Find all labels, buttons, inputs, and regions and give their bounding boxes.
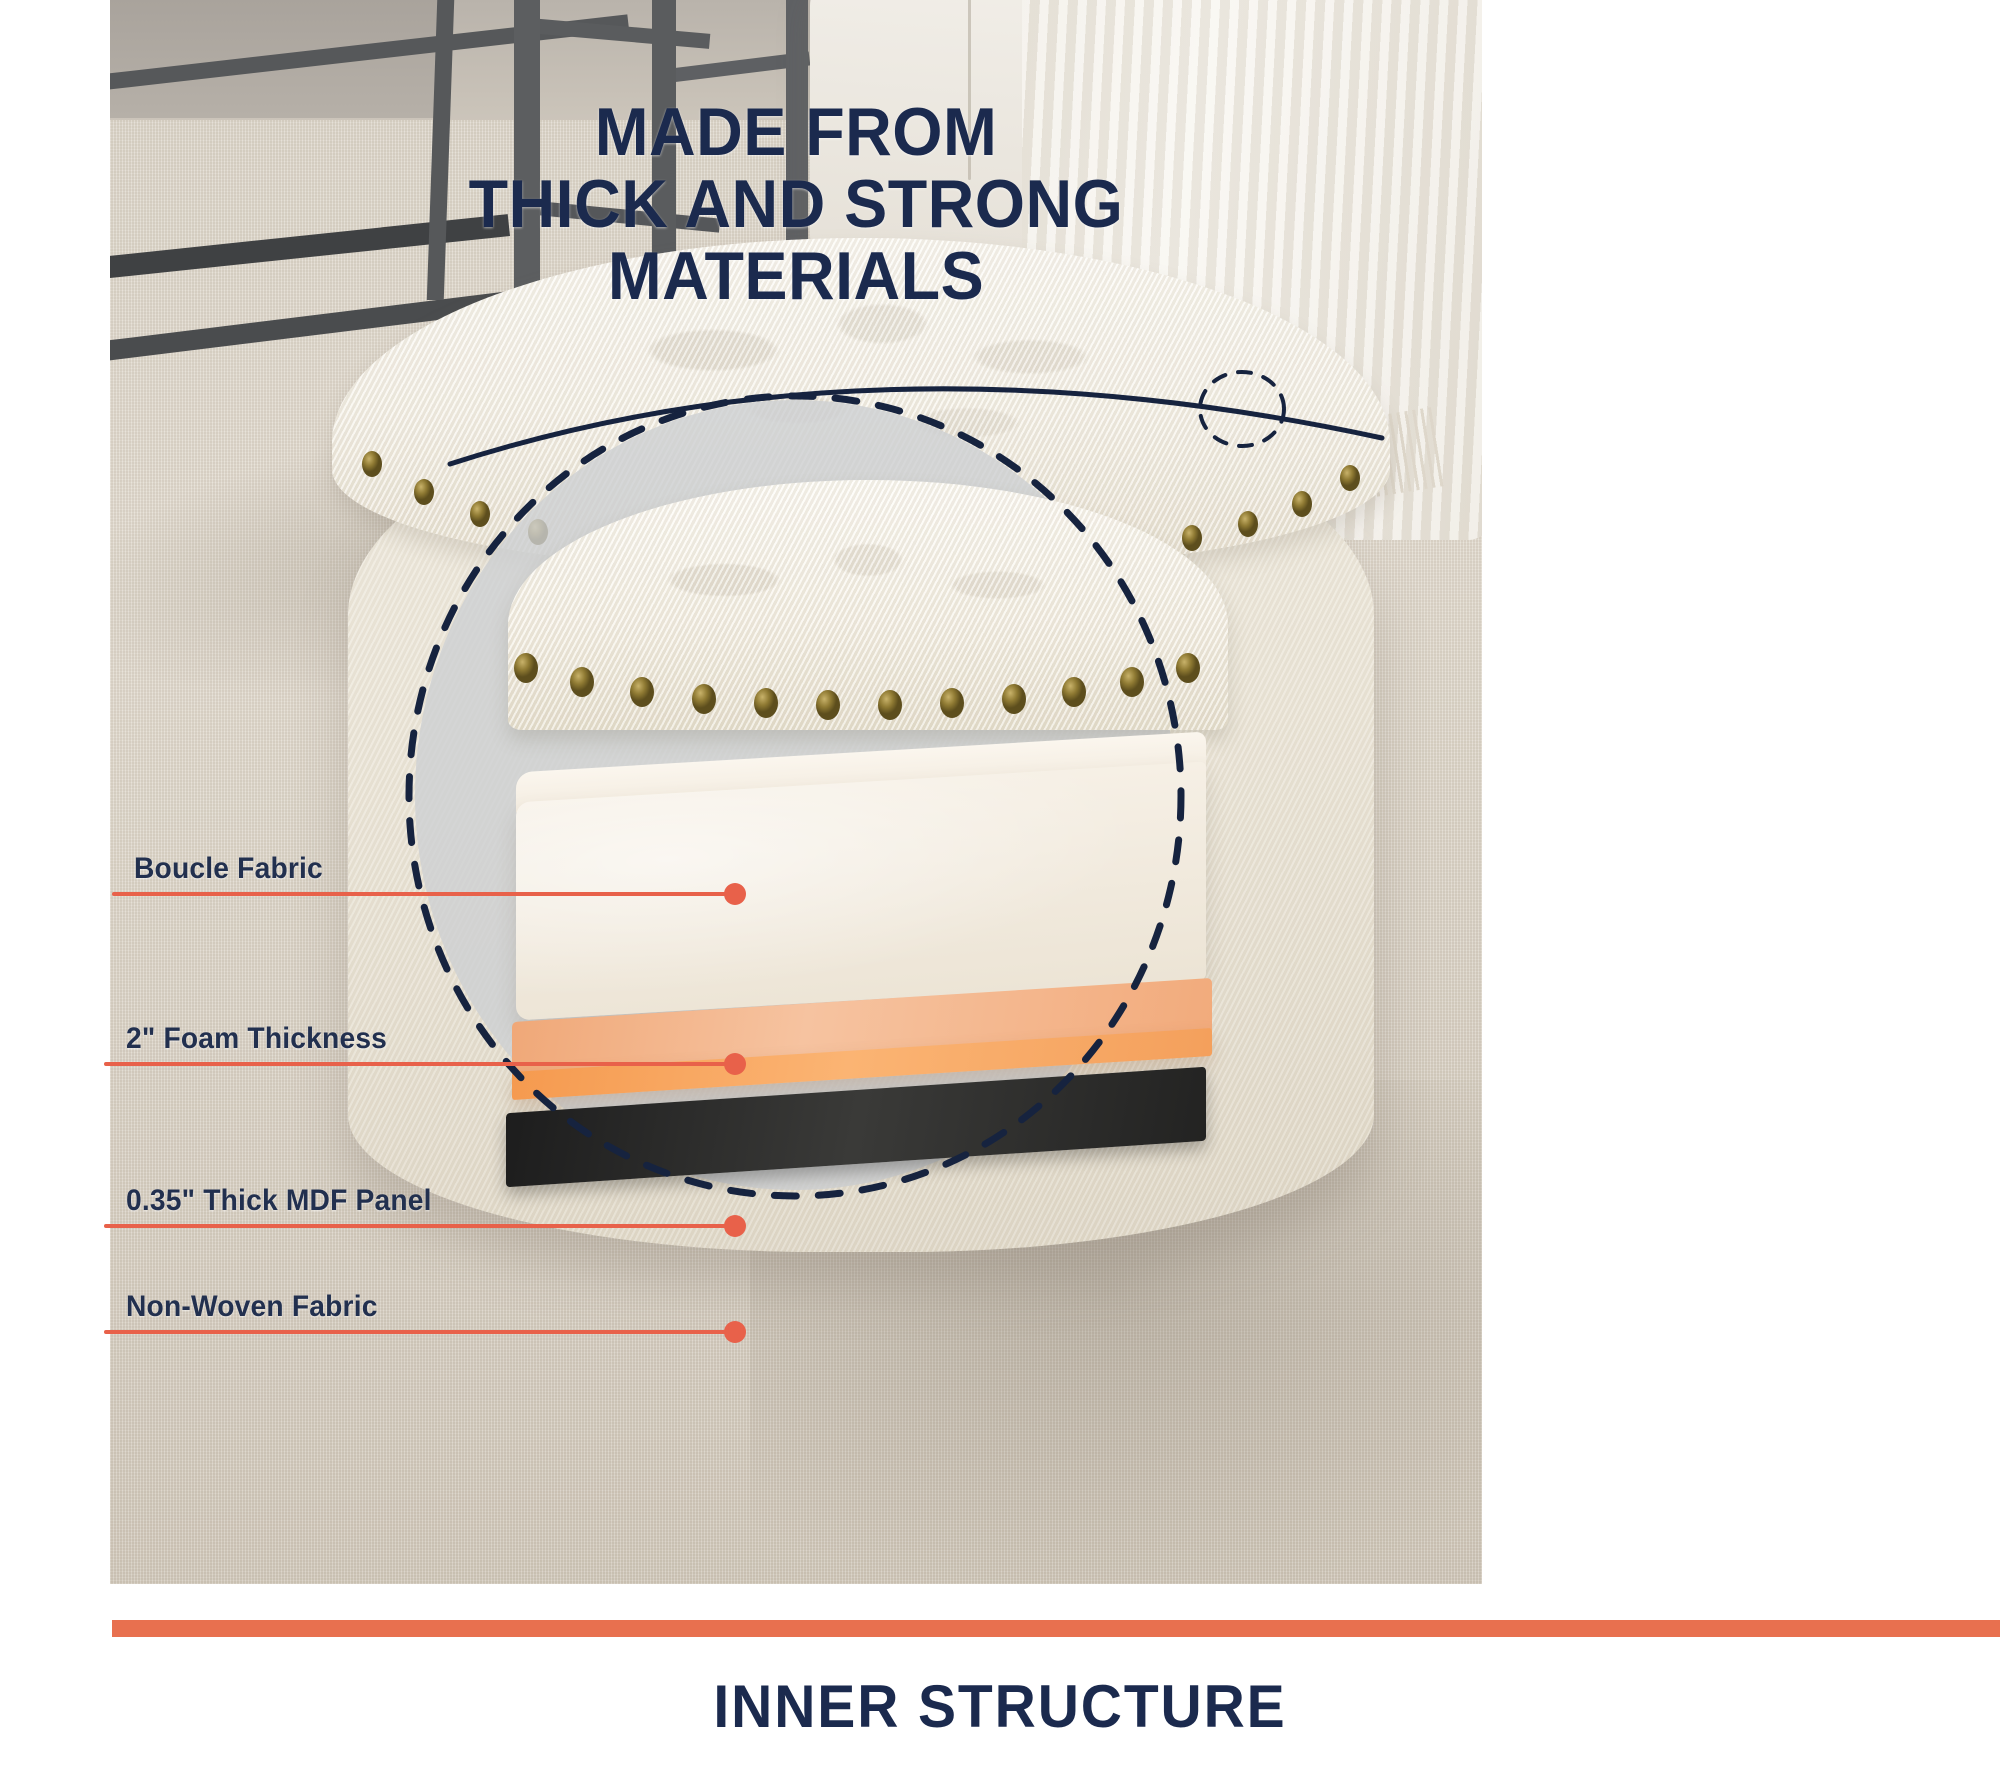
leader-line-icon — [112, 892, 734, 896]
leader-line-icon — [104, 1330, 734, 1334]
callout-label: 0.35" Thick MDF Panel — [126, 1184, 432, 1218]
leader-dot-icon — [724, 1321, 746, 1343]
product-photo-panel: MADE FROM THICK AND STRONG MATERIALS — [110, 0, 1482, 1584]
footer-heading: INNER STRUCTURE — [50, 1672, 1950, 1741]
leader-line-icon — [104, 1062, 734, 1066]
leader-dot-icon — [724, 883, 746, 905]
callout-foam-thickness[interactable]: 2" Foam Thickness — [104, 976, 744, 1066]
leader-dot-icon — [724, 1053, 746, 1075]
callout-label: Boucle Fabric — [134, 852, 323, 886]
callout-boucle-fabric[interactable]: Boucle Fabric — [112, 806, 752, 896]
leader-dot-icon — [724, 1215, 746, 1237]
section-divider — [112, 1620, 2000, 1637]
callout-mdf-panel[interactable]: 0.35" Thick MDF Panel — [104, 1138, 744, 1228]
headline-line-1: MADE FROM — [144, 96, 1447, 168]
page-title: MADE FROM THICK AND STRONG MATERIALS — [144, 96, 1447, 312]
headline-line-2: THICK AND STRONG — [144, 168, 1447, 240]
callout-non-woven-fabric[interactable]: Non-Woven Fabric — [104, 1244, 744, 1334]
leader-line-icon — [104, 1224, 734, 1228]
callout-label: 2" Foam Thickness — [126, 1022, 387, 1056]
callout-label: Non-Woven Fabric — [126, 1290, 378, 1324]
lens-dashed-outline — [400, 388, 1190, 1204]
headline-line-3: MATERIALS — [144, 240, 1447, 312]
stud-detail-dashed-ring — [1196, 368, 1288, 450]
